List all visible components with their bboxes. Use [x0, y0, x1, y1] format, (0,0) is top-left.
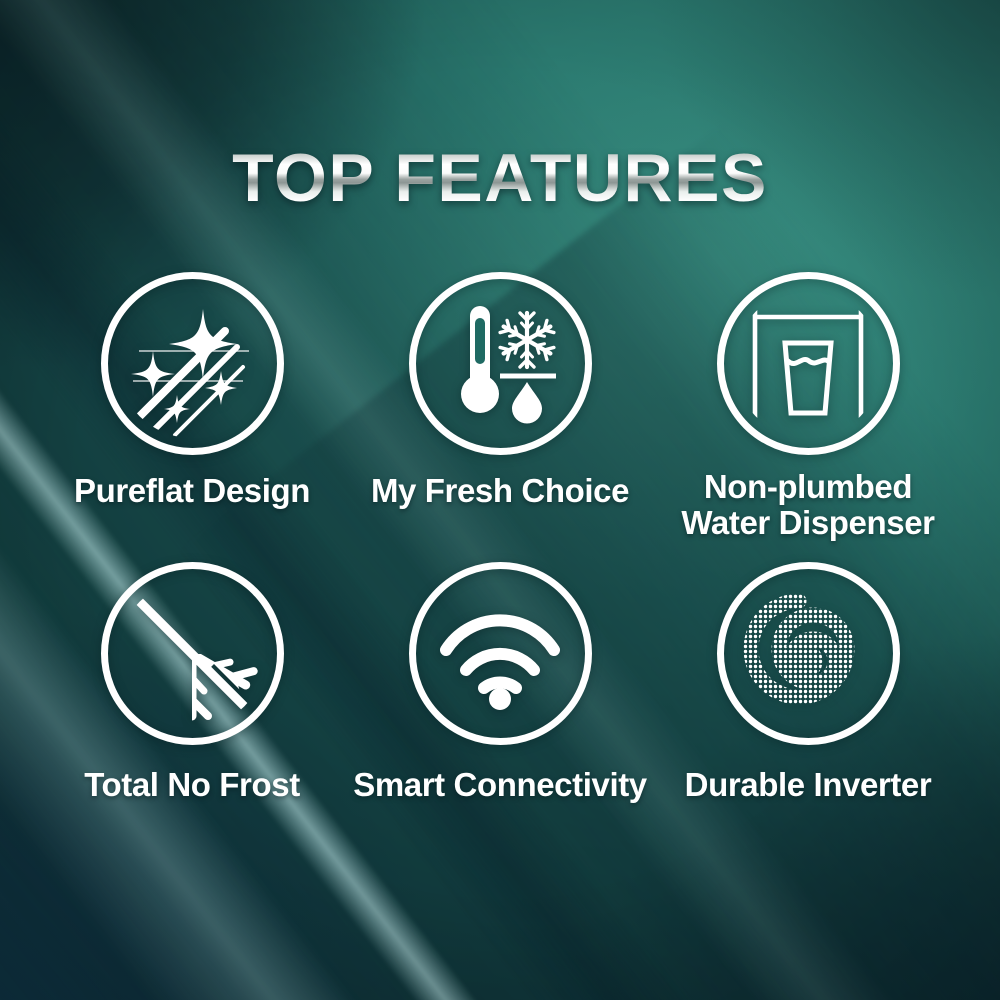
- feature-label: Pureflat Design: [74, 473, 310, 509]
- no-frost-snowflake-icon: [101, 562, 284, 745]
- feature-item-my-fresh-choice[interactable]: My Fresh Choice: [346, 272, 654, 562]
- feature-item-durable-inverter[interactable]: Durable Inverter: [654, 562, 962, 852]
- feature-label: Non-plumbed Water Dispenser: [681, 469, 934, 540]
- feature-item-total-no-frost[interactable]: Total No Frost: [38, 562, 346, 852]
- water-dispenser-glass-icon: [717, 272, 900, 455]
- feature-label: Smart Connectivity: [353, 767, 647, 803]
- features-grid: Pureflat Design: [38, 272, 962, 852]
- feature-label: Durable Inverter: [685, 767, 932, 803]
- feature-item-non-plumbed-water-dispenser[interactable]: Non-plumbed Water Dispenser: [654, 272, 962, 562]
- feature-label: Total No Frost: [84, 767, 300, 803]
- poster-content: TOP FEATURES: [0, 0, 1000, 1000]
- feature-item-smart-connectivity[interactable]: Smart Connectivity: [346, 562, 654, 852]
- feature-label: My Fresh Choice: [371, 473, 629, 509]
- sparkle-shine-icon: [101, 272, 284, 455]
- top-features-poster: TOP FEATURES: [0, 0, 1000, 1000]
- thermometer-snowflake-droplet-icon: [409, 272, 592, 455]
- page-title-wrap: TOP FEATURES: [0, 98, 1000, 257]
- wifi-icon: [409, 562, 592, 745]
- inverter-spiral-icon: [717, 562, 900, 745]
- page-title: TOP FEATURES: [232, 144, 768, 212]
- feature-item-pureflat-design[interactable]: Pureflat Design: [38, 272, 346, 562]
